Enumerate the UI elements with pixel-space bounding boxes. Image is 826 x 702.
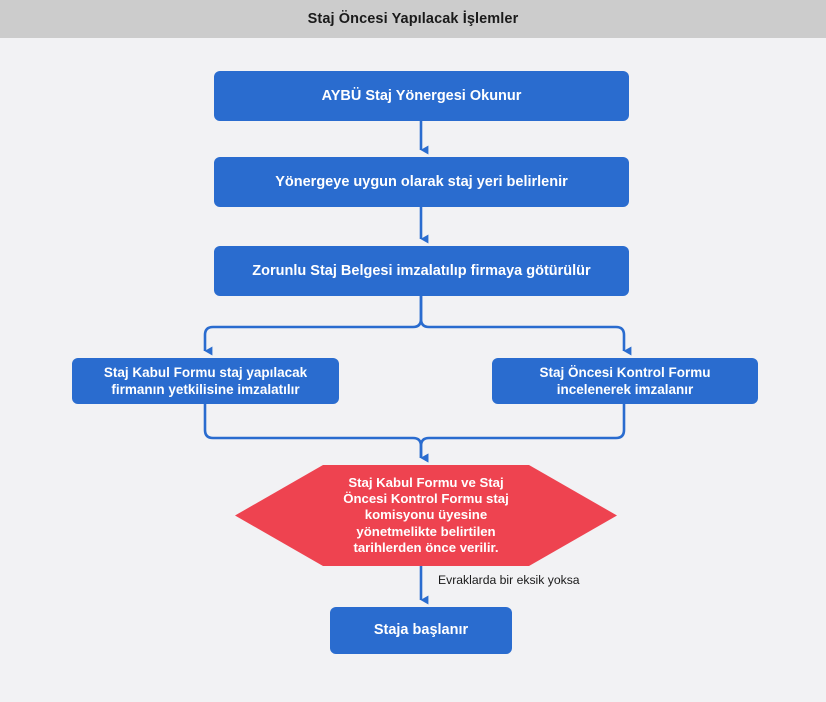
flow-node-n1-label: AYBÜ Staj Yönergesi Okunur [312, 87, 532, 106]
flow-node-n7[interactable]: Staja başlanır [330, 607, 512, 654]
flow-node-n5[interactable]: Staj Öncesi Kontrol Formu incelenerek im… [492, 358, 758, 404]
flow-node-n4[interactable]: Staj Kabul Formu staj yapılacak firmanın… [72, 358, 339, 404]
flow-node-n6-decision[interactable]: Staj Kabul Formu ve Staj Öncesi Kontrol … [235, 465, 617, 566]
page-title: Staj Öncesi Yapılacak İşlemler [308, 11, 519, 27]
flowchart-page: Staj Öncesi Yapılacak İşlemler AYBÜ Staj… [0, 0, 826, 702]
flow-node-n6-label: Staj Kabul Formu ve Staj Öncesi Kontrol … [235, 465, 617, 566]
flow-node-n5-label: Staj Öncesi Kontrol Formu incelenerek im… [492, 364, 758, 399]
flow-node-n4-label: Staj Kabul Formu staj yapılacak firmanın… [72, 364, 339, 399]
flow-node-n2-label: Yönergeye uygun olarak staj yeri belirle… [265, 173, 578, 192]
edge-n3-n5 [421, 296, 624, 351]
edge-label-n6-n7: Evraklarda bir eksik yoksa [438, 573, 580, 587]
flow-node-n3-label: Zorunlu Staj Belgesi imzalatılıp firmaya… [242, 262, 600, 281]
flow-node-n7-label: Staja başlanır [364, 621, 478, 640]
edge-n5-n6 [421, 404, 624, 458]
flow-node-n3[interactable]: Zorunlu Staj Belgesi imzalatılıp firmaya… [214, 246, 629, 296]
header-bar: Staj Öncesi Yapılacak İşlemler [0, 0, 826, 38]
flow-node-n2[interactable]: Yönergeye uygun olarak staj yeri belirle… [214, 157, 629, 207]
flow-node-n1[interactable]: AYBÜ Staj Yönergesi Okunur [214, 71, 629, 121]
edge-n4-n6 [205, 404, 421, 458]
edge-n3-n4 [205, 296, 421, 351]
